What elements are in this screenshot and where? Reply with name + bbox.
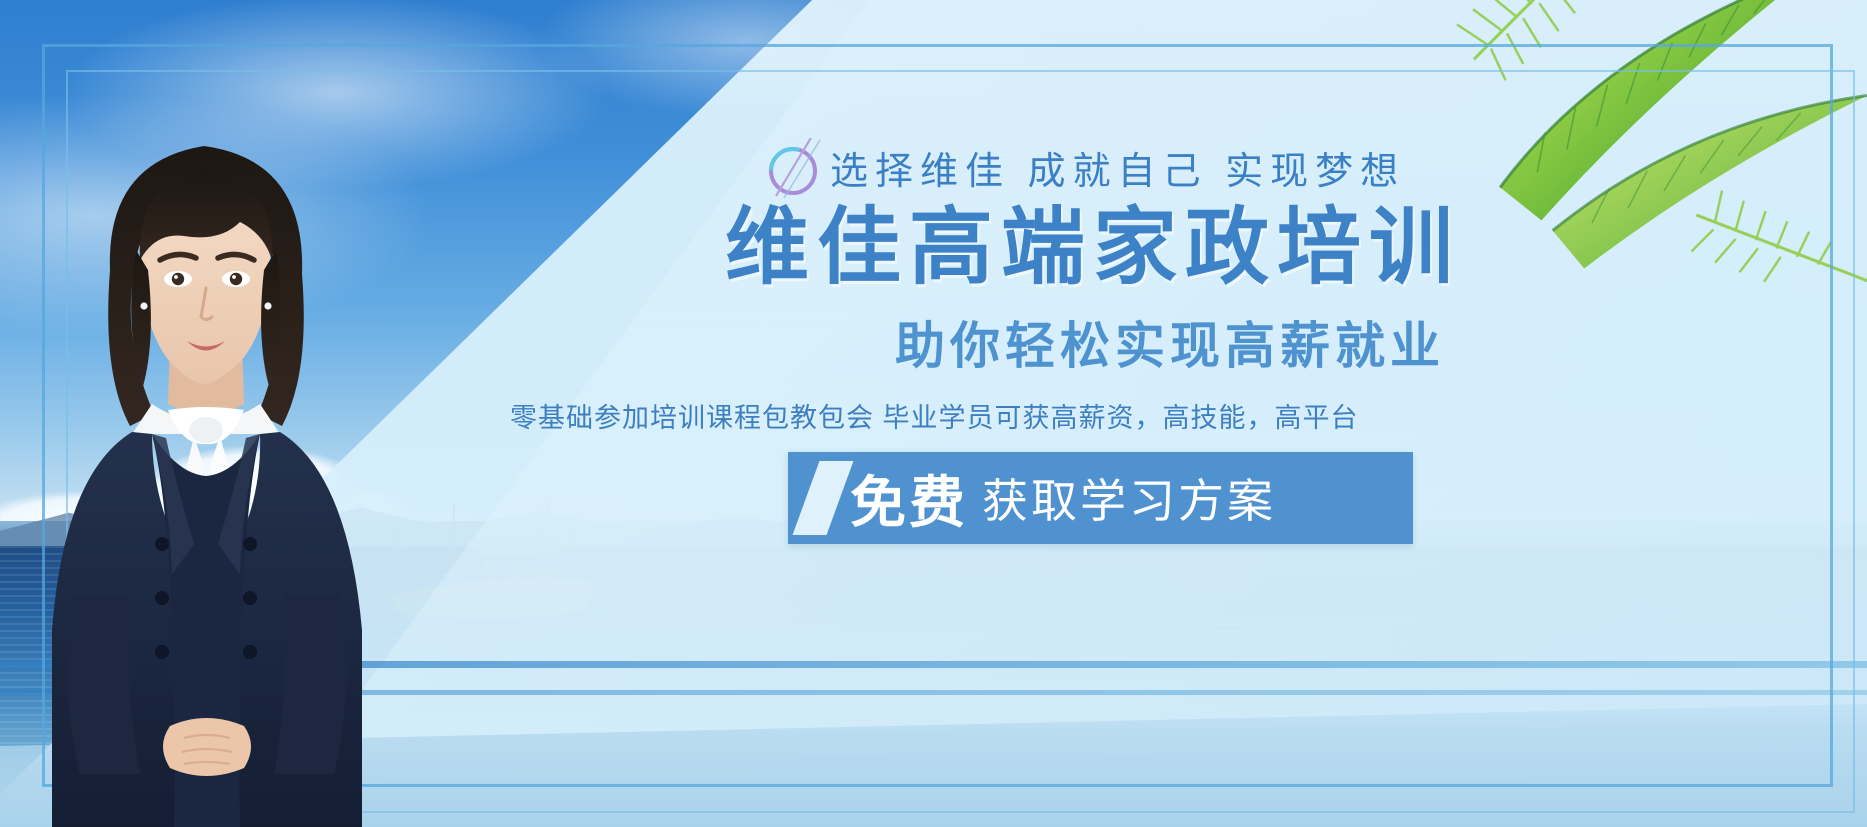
cta-action-label: 获取学习方案 <box>982 465 1276 531</box>
circle-outline-icon <box>762 138 824 200</box>
banner-subheadline: 助你轻松实现高薪就业 <box>895 306 1725 378</box>
text-content: 选择维佳 成就自己 实现梦想 维佳高端家政培训 助你轻松实现高薪就业 零基础参加… <box>500 0 1867 827</box>
cta-free-label: 免费 <box>850 458 968 539</box>
banner-description: 零基础参加培训课程包教包会 毕业学员可获高薪资，高技能，高平台 <box>510 396 1867 435</box>
slash-accent-icon <box>793 461 854 535</box>
free-plan-cta-button[interactable]: 免费 获取学习方案 <box>788 452 1413 544</box>
female-instructor-portrait <box>44 74 404 827</box>
banner-tagline: 选择维佳 成就自己 实现梦想 <box>830 140 1430 195</box>
promo-banner: 选择维佳 成就自己 实现梦想 维佳高端家政培训 助你轻松实现高薪就业 零基础参加… <box>0 0 1867 827</box>
banner-headline: 维佳高端家政培训 <box>725 200 1715 294</box>
